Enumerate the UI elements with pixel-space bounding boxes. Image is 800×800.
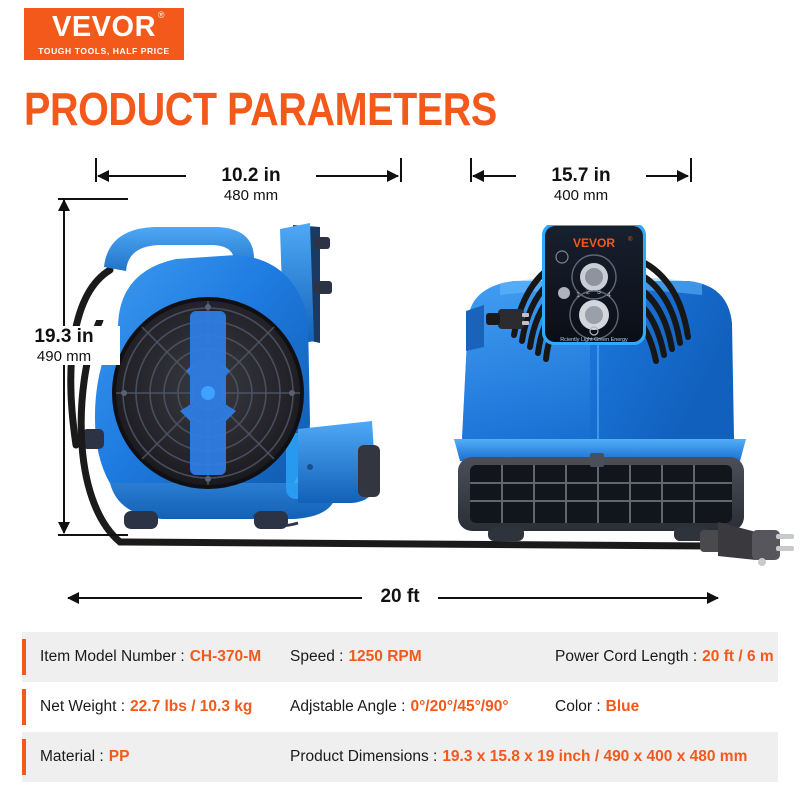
dim-height-inch: 19.3 in — [15, 326, 113, 348]
spec-cell-product-dimensions: Product Dimensions : 19.3 x 15.8 x 19 in… — [290, 748, 747, 766]
svg-text:1: 1 — [576, 292, 580, 299]
registered-mark-icon: ® — [158, 11, 165, 20]
spec-cell-cord-length: Power Cord Length : 20 ft / 6 m — [555, 648, 774, 666]
table-row: Material : PP Product Dimensions : 19.3 … — [22, 732, 778, 782]
dim-tick-left-width-end — [400, 158, 402, 182]
spec-value: 19.3 x 15.8 x 19 inch / 490 x 400 x 480 … — [442, 748, 747, 766]
dim-height-mm: 490 mm — [15, 348, 113, 365]
dim-label-cord-length: 20 ft — [362, 586, 438, 608]
dim-tick-right-width-end — [690, 158, 692, 182]
spec-key: Product Dimensions : — [290, 748, 437, 766]
vevor-logo: VEVOR® TOUGH TOOLS, HALF PRICE — [24, 8, 184, 60]
spec-value: PP — [109, 748, 130, 766]
spec-value: 0°/20°/45°/90° — [410, 698, 508, 716]
table-row: Net Weight : 22.7 lbs / 10.3 kg Adjstabl… — [22, 682, 778, 732]
spec-key: Net Weight : — [40, 698, 125, 716]
svg-text:4: 4 — [607, 292, 611, 299]
row-accent-bar — [22, 639, 26, 675]
spec-value: 1250 RPM — [348, 648, 421, 666]
spec-value: Blue — [606, 698, 640, 716]
spec-cell-material: Material : PP — [40, 748, 290, 766]
spec-key: Adjstable Angle : — [290, 698, 405, 716]
dim-tick-height-bottom — [58, 534, 128, 536]
spec-key: Material : — [40, 748, 104, 766]
spec-key: Power Cord Length : — [555, 648, 697, 666]
specifications-table: Item Model Number : CH-370-M Speed : 125… — [22, 632, 778, 782]
svg-text:®: ® — [628, 236, 633, 243]
spec-key: Color : — [555, 698, 601, 716]
dim-right-width-inch: 15.7 in — [523, 165, 639, 187]
dim-arrow-height — [63, 200, 65, 533]
power-cord-illustration — [60, 320, 800, 590]
control-panel-brand: VEVOR — [573, 236, 615, 250]
spec-cell-model: Item Model Number : CH-370-M — [40, 648, 290, 666]
spec-value: 20 ft / 6 m — [702, 648, 774, 666]
spec-cell-color: Color : Blue — [555, 698, 639, 716]
logo-wordmark: VEVOR® — [52, 13, 156, 42]
logo-brand-text: VEVOR — [52, 11, 156, 43]
page-title: PRODUCT PARAMETERS — [24, 82, 497, 136]
row-accent-bar — [22, 689, 26, 725]
dim-label-height: 19.3 in 490 mm — [8, 326, 120, 365]
table-row: Item Model Number : CH-370-M Speed : 125… — [22, 632, 778, 682]
svg-text:3: 3 — [597, 289, 601, 296]
power-plug-icon — [700, 522, 794, 566]
spec-cell-net-weight: Net Weight : 22.7 lbs / 10.3 kg — [40, 698, 290, 716]
dim-label-right-width: 15.7 in 400 mm — [516, 165, 646, 204]
dim-left-width-mm: 480 mm — [193, 187, 309, 204]
svg-text:2: 2 — [586, 289, 590, 296]
logo-tagline: TOUGH TOOLS, HALF PRICE — [38, 46, 170, 56]
spec-cell-speed: Speed : 1250 RPM — [290, 648, 555, 666]
dim-cord-length-value: 20 ft — [369, 586, 431, 608]
dim-label-left-width: 10.2 in 480 mm — [186, 165, 316, 204]
spec-value: 22.7 lbs / 10.3 kg — [130, 698, 252, 716]
dim-left-width-inch: 10.2 in — [193, 165, 309, 187]
row-accent-bar — [22, 739, 26, 775]
spec-value: CH-370-M — [190, 648, 261, 666]
product-parameters-page: VEVOR® TOUGH TOOLS, HALF PRICE PRODUCT P… — [0, 0, 800, 800]
spec-cell-adjustable-angle: Adjstable Angle : 0°/20°/45°/90° — [290, 698, 555, 716]
spec-key: Speed : — [290, 648, 343, 666]
spec-key: Item Model Number : — [40, 648, 185, 666]
dim-right-width-mm: 400 mm — [523, 187, 639, 204]
